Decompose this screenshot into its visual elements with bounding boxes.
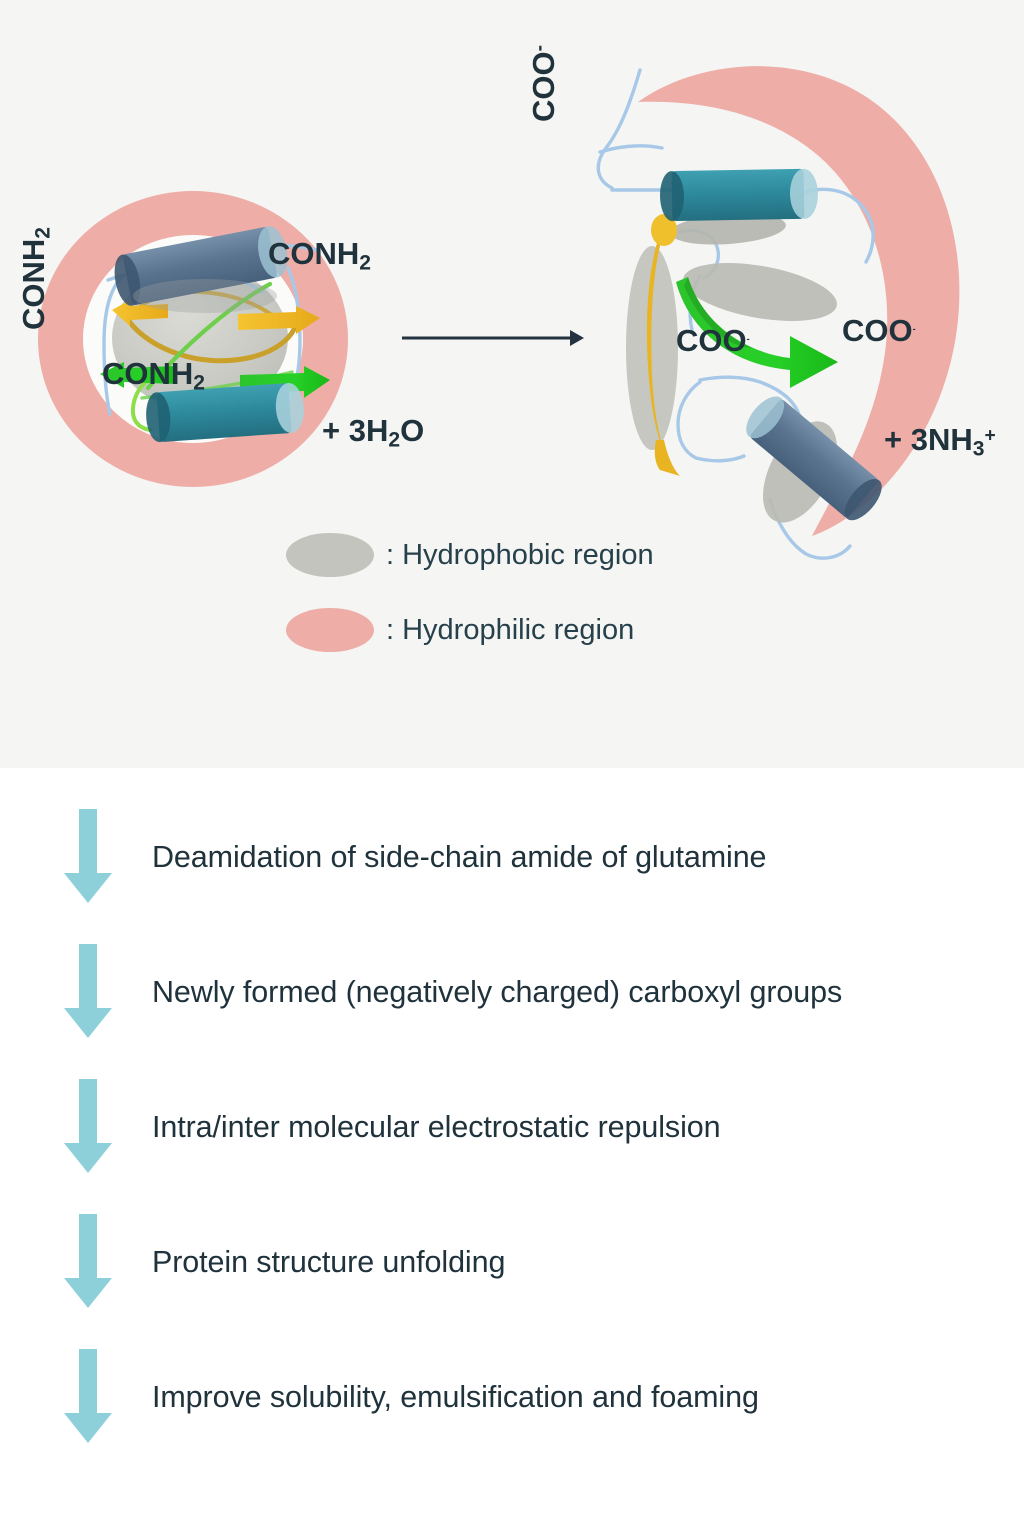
- cascade-step-1: Deamidation of side-chain amide of gluta…: [0, 790, 1024, 924]
- legend-item-hydrophilic: : Hydrophilic region: [286, 608, 634, 652]
- cascade-step-1-label: Deamidation of side-chain amide of gluta…: [152, 840, 766, 875]
- reaction-arrow: [402, 330, 584, 346]
- coil-backbone-right-9: [696, 456, 744, 461]
- cascade-step-5-label: Improve solubility, emulsification and f…: [152, 1380, 759, 1415]
- cascade-step-2-label: Newly formed (negatively charged) carbox…: [152, 975, 842, 1010]
- coil-backbone-right-2: [600, 146, 662, 152]
- label-coo-right-right: COO-: [842, 315, 916, 346]
- coil-backbone-right-8: [678, 382, 700, 458]
- down-arrow-icon: [62, 944, 114, 1040]
- label-ammonium-product: + 3NH3+: [884, 424, 996, 459]
- down-arrow-icon: [62, 809, 114, 905]
- legend-label-hydrophilic: : Hydrophilic region: [386, 614, 634, 647]
- legend-label-hydrophobic: : Hydrophobic region: [386, 539, 654, 572]
- cascade-step-3-label: Intra/inter molecular electrostatic repu…: [152, 1110, 720, 1145]
- down-arrow-icon: [62, 1079, 114, 1175]
- helix-cylinder-teal-right: [660, 169, 819, 222]
- label-coo-rotated-right: COO-: [528, 45, 559, 122]
- legend-swatch-hydrophobic: [286, 533, 374, 577]
- down-arrow-icon: [62, 1349, 114, 1445]
- legend-swatch-hydrophilic: [286, 608, 374, 652]
- label-water-reagent: + 3H2O: [322, 415, 424, 450]
- cascade-panel: Deamidation of side-chain amide of gluta…: [0, 768, 1024, 1536]
- helix-shadow-slate-left: [133, 279, 277, 313]
- down-arrow-icon: [62, 1214, 114, 1310]
- coil-backbone-right: [598, 70, 640, 188]
- cascade-step-4: Protein structure unfolding: [0, 1195, 1024, 1329]
- cascade-step-2: Newly formed (negatively charged) carbox…: [0, 925, 1024, 1059]
- deamidation-figure: CONH2 CONH2 CONH2 + 3H2O COO- COO- COO- …: [0, 0, 1024, 1536]
- cascade-step-5: Improve solubility, emulsification and f…: [0, 1330, 1024, 1464]
- reaction-scheme-panel: CONH2 CONH2 CONH2 + 3H2O COO- COO- COO- …: [0, 0, 1024, 768]
- cascade-step-4-label: Protein structure unfolding: [152, 1245, 505, 1280]
- cascade-step-3: Intra/inter molecular electrostatic repu…: [0, 1060, 1024, 1194]
- beta-strand-yellow-right-tail: [655, 440, 680, 476]
- label-conh2-top-left: CONH2: [268, 238, 371, 273]
- label-coo-left-right: COO-: [676, 325, 750, 356]
- label-conh2-mid-left: CONH2: [102, 358, 205, 393]
- label-conh2-rotated-left: CONH2: [18, 227, 53, 330]
- legend-item-hydrophobic: : Hydrophobic region: [286, 533, 654, 577]
